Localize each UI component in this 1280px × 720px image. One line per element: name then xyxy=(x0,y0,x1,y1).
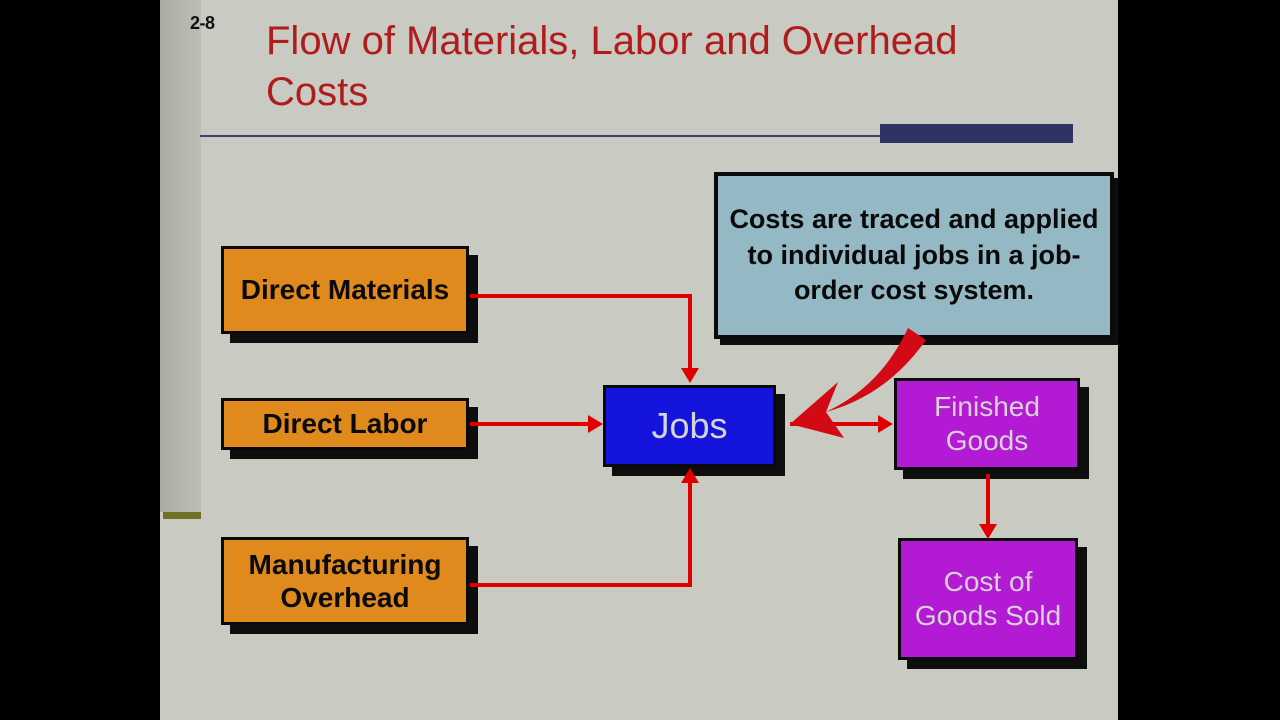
letterbox-stage: 2-8 Flow of Materials, Labor and Overhea… xyxy=(0,0,1280,720)
connector-direct-materials-to-jobs-horizontal xyxy=(470,294,692,298)
callout-box-cost-tracing: Costs are traced and applied to individu… xyxy=(714,172,1114,339)
arrowhead-manufacturing-overhead-to-jobs xyxy=(681,468,699,483)
connector-manufacturing-overhead-to-jobs-horizontal xyxy=(470,583,692,587)
title-accent-bar xyxy=(880,124,1073,143)
node-direct-labor-label: Direct Labor xyxy=(224,407,466,440)
slide-number: 2-8 xyxy=(190,13,215,34)
page-title: Flow of Materials, Labor and Overhead Co… xyxy=(266,16,966,118)
node-direct-materials-label: Direct Materials xyxy=(224,273,466,306)
node-direct-labor: Direct Labor xyxy=(221,398,469,450)
connector-direct-materials-to-jobs-vertical xyxy=(688,294,692,370)
arrowhead-direct-labor-to-jobs xyxy=(588,415,603,433)
arrowhead-direct-materials-to-jobs xyxy=(681,368,699,383)
connector-direct-labor-to-jobs xyxy=(470,422,588,426)
node-cost-of-goods-sold: Cost of Goods Sold xyxy=(898,538,1078,660)
node-direct-materials: Direct Materials xyxy=(221,246,469,334)
node-jobs: Jobs xyxy=(603,385,776,467)
node-manufacturing-overhead-label: Manufacturing Overhead xyxy=(224,548,466,614)
slide-left-accent-cap xyxy=(163,512,201,519)
node-jobs-label: Jobs xyxy=(606,405,773,447)
connector-manufacturing-overhead-to-jobs-vertical xyxy=(688,482,692,585)
node-manufacturing-overhead: Manufacturing Overhead xyxy=(221,537,469,625)
arrowhead-finished-goods-to-cogs xyxy=(979,524,997,539)
title-divider-rule xyxy=(200,135,940,137)
slide-left-accent-band xyxy=(160,0,201,512)
curved-arrow-callout-to-jobs xyxy=(760,320,930,450)
node-cost-of-goods-sold-label: Cost of Goods Sold xyxy=(901,565,1075,632)
presentation-slide: 2-8 Flow of Materials, Labor and Overhea… xyxy=(160,0,1118,720)
callout-text: Costs are traced and applied to individu… xyxy=(718,202,1110,309)
connector-finished-goods-to-cogs xyxy=(986,474,990,526)
